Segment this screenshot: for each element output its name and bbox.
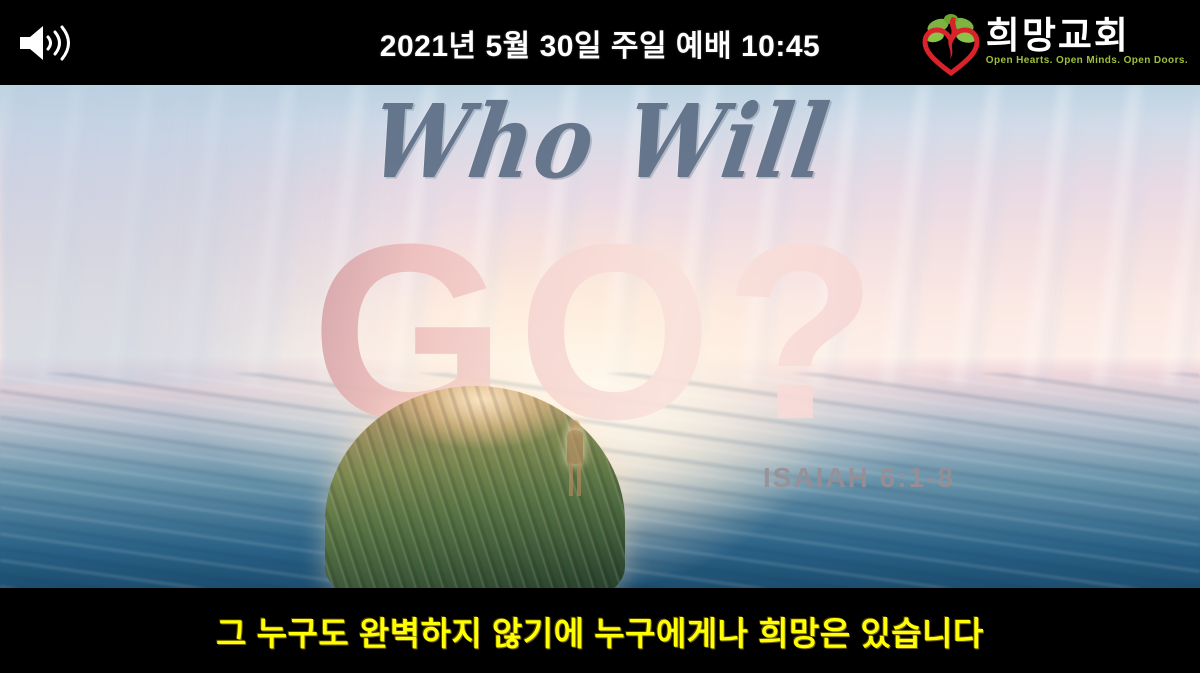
person-silhouette (563, 420, 587, 496)
header-bar: 2021년 5월 30일 주일 예배 10:45 희망교회 (0, 0, 1200, 85)
church-name: 희망교회 (986, 17, 1188, 55)
church-tagline: Open Hearts. Open Minds. Open Doors. (986, 55, 1188, 67)
subtitle-text: 그 누구도 완벽하지 않기에 누구에게나 희망은 있습니다 (216, 607, 984, 655)
subtitle-bar: 그 누구도 완벽하지 않기에 누구에게나 희망은 있습니다 (0, 588, 1200, 673)
stream-stage: 2021년 5월 30일 주일 예배 10:45 희망교회 (0, 0, 1200, 673)
church-logo: 희망교회 Open Hearts. Open Minds. Open Doors… (922, 4, 1188, 82)
heart-flame-leaves-icon (922, 9, 980, 77)
figure-legs (569, 462, 581, 496)
scripture-reference: ISAIAH 6:1-8 (763, 462, 955, 494)
video-slide[interactable]: GO? Who Will ISAIAH 6:1-8 (0, 85, 1200, 588)
slide-script-line: Who Will (0, 92, 1200, 193)
slide-headline: GO? (0, 207, 1200, 457)
figure-body (567, 430, 583, 464)
